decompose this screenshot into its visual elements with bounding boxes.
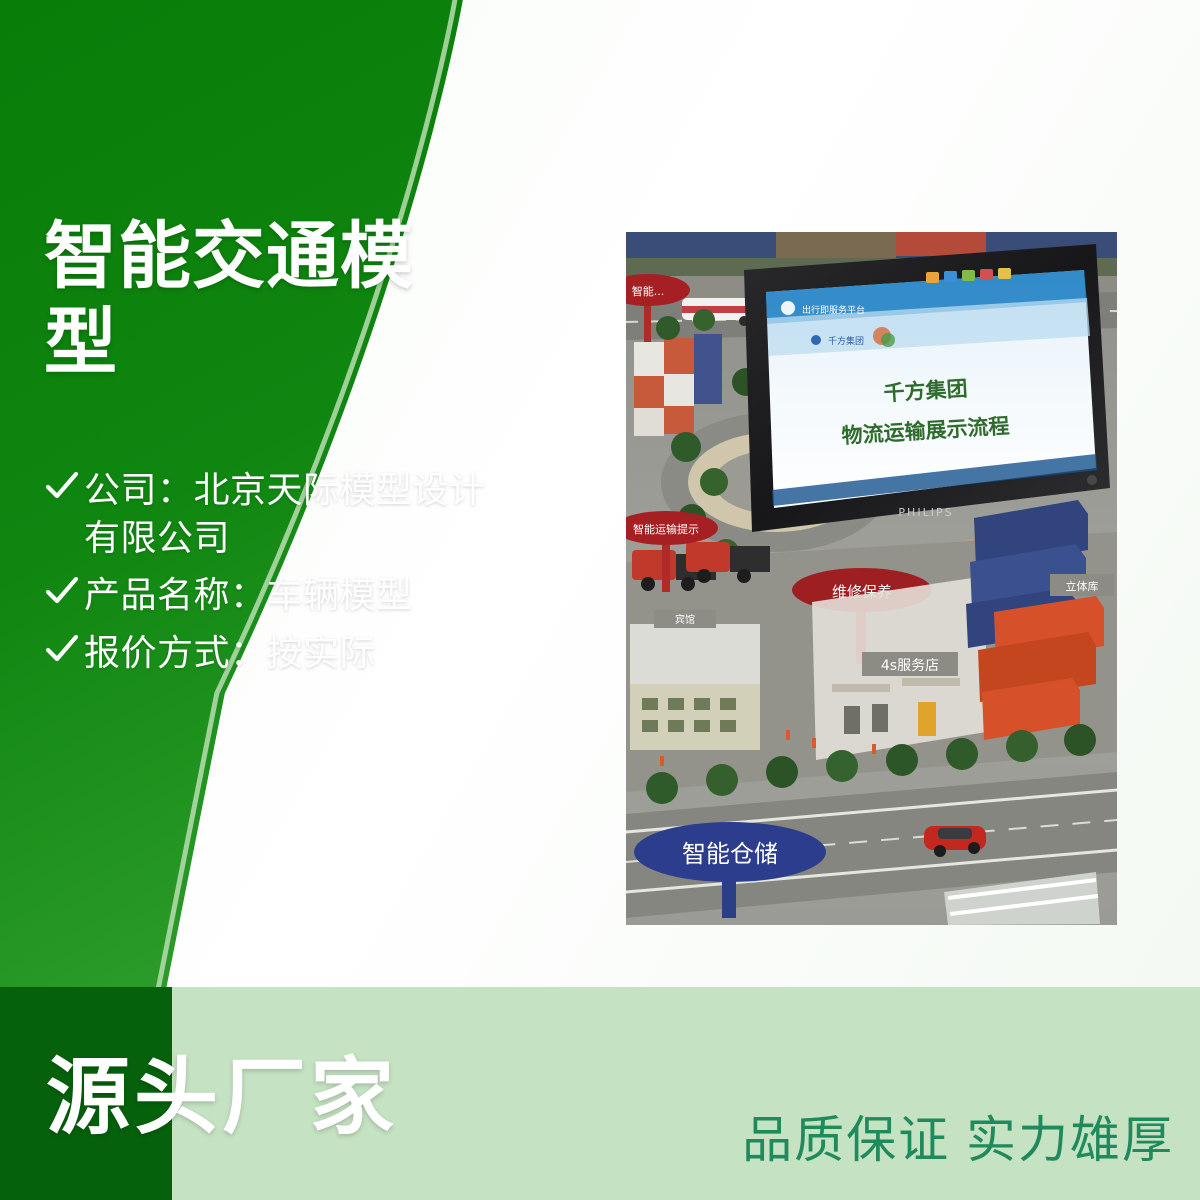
building-4s-service: 4s服务店 [812, 578, 986, 760]
list-item-label: 产品名称：车辆模型 [84, 571, 413, 619]
list-item-label: 公司：北京天际模型设计有限公司 [84, 466, 488, 561]
svg-text:宾馆: 宾馆 [675, 613, 695, 626]
sign-warehouse-grey: 立体库 [1050, 574, 1114, 596]
list-item-label: 报价方式：按实际 [84, 629, 376, 677]
list-item: 产品名称：车辆模型 [40, 571, 488, 619]
slogan-primary: 源头厂家 [46, 1030, 398, 1151]
svg-text:千方集团: 千方集团 [883, 376, 968, 405]
check-icon [40, 571, 84, 619]
svg-text:千方集团: 千方集团 [828, 335, 864, 347]
feature-list: 公司：北京天际模型设计有限公司 产品名称：车辆模型 报价方式：按实际 [40, 466, 488, 687]
svg-text:PHILIPS: PHILIPS [898, 506, 953, 519]
svg-text:立体库: 立体库 [1066, 579, 1099, 593]
check-icon [40, 629, 84, 677]
poster-canvas: 智能... [0, 0, 1200, 1200]
building-hotel: 宾馆 [630, 610, 760, 750]
list-item: 公司：北京天际模型设计有限公司 [40, 466, 488, 561]
svg-text:出行即服务平台: 出行即服务平台 [802, 304, 865, 316]
svg-text:智能运输提示: 智能运输提示 [633, 522, 699, 536]
product-photo: 智能... [626, 232, 1117, 925]
check-icon [40, 466, 84, 514]
svg-text:智能...: 智能... [632, 284, 665, 298]
svg-text:智能仓储: 智能仓储 [682, 840, 778, 868]
monitor-display: 出行即服务平台 千方集团 千方集团 物流运输展示流程 [744, 244, 1110, 532]
svg-text:4s服务店: 4s服务店 [881, 658, 939, 674]
slogan-secondary: 品质保证 实力雄厚 [742, 1100, 1174, 1172]
list-item: 报价方式：按实际 [40, 629, 488, 677]
page-title: 智能交通模型 [44, 214, 474, 386]
photo-illustration: 智能... [626, 232, 1117, 925]
